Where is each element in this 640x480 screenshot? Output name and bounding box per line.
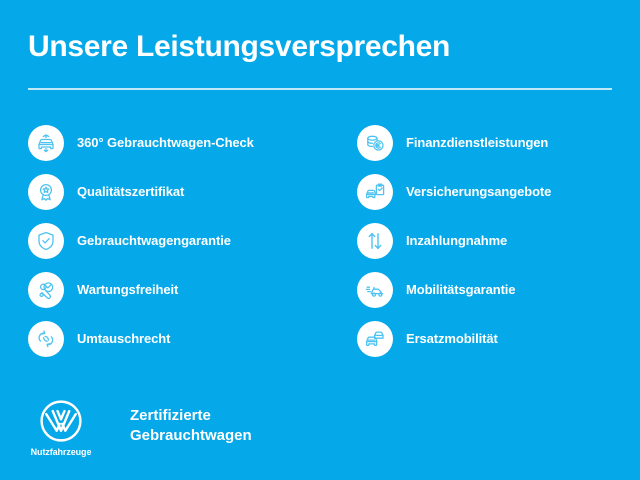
list-item[interactable]: Inzahlungnahme [357, 216, 627, 265]
list-item[interactable]: Wartungsfreiheit [28, 265, 348, 314]
list-item-label: Inzahlungnahme [406, 233, 507, 248]
two-cars-icon [357, 321, 393, 357]
list-item[interactable]: 360° Gebrauchtwagen-Check [28, 118, 348, 167]
list-item[interactable]: Ersatzmobilität [357, 314, 627, 363]
car-motion-icon [357, 272, 393, 308]
slide-root: Unsere Leistungsversprechen 360° Ge [0, 0, 640, 480]
page-title: Unsere Leistungsversprechen [28, 30, 450, 64]
list-item[interactable]: Qualitätszertifikat [28, 167, 348, 216]
brand-lockup: Nutzfahrzeuge Zertifizierte Gebrauchtwag… [26, 398, 252, 457]
promises-right-column: Finanzdienstleistungen Versicherungsange… [357, 118, 627, 363]
title-divider [28, 88, 612, 90]
list-item[interactable]: Finanzdienstleistungen [357, 118, 627, 167]
list-item-label: Ersatzmobilität [406, 331, 498, 346]
coins-euro-icon [357, 125, 393, 161]
brand-tagline-line2: Gebrauchtwagen [130, 426, 252, 446]
volkswagen-logo-icon [38, 398, 84, 444]
list-item-label: 360° Gebrauchtwagen-Check [77, 135, 254, 150]
promises-left-column: 360° Gebrauchtwagen-Check Qualitätszerti… [28, 118, 348, 363]
list-item[interactable]: Mobilitätsgarantie [357, 265, 627, 314]
list-item-label: Umtauschrecht [77, 331, 170, 346]
brand-tagline-line1: Zertifizierte [130, 406, 252, 426]
list-item-label: Gebrauchtwagengarantie [77, 233, 231, 248]
exchange-arrows-icon [28, 321, 64, 357]
brand-subtitle: Nutzfahrzeuge [31, 447, 92, 457]
wrench-check-icon [28, 272, 64, 308]
list-item-label: Mobilitätsgarantie [406, 282, 515, 297]
list-item-label: Finanzdienstleistungen [406, 135, 548, 150]
list-item[interactable]: Umtauschrecht [28, 314, 348, 363]
list-item-label: Qualitätszertifikat [77, 184, 184, 199]
list-item-label: Wartungsfreiheit [77, 282, 178, 297]
brand-mark: Nutzfahrzeuge [26, 398, 96, 457]
list-item-label: Versicherungsangebote [406, 184, 551, 199]
list-item[interactable]: Gebrauchtwagengarantie [28, 216, 348, 265]
brand-tagline: Zertifizierte Gebrauchtwagen [130, 406, 252, 446]
car-clipboard-icon [357, 174, 393, 210]
list-item[interactable]: Versicherungsangebote [357, 167, 627, 216]
car-inspection-icon [28, 125, 64, 161]
quality-medal-icon [28, 174, 64, 210]
up-down-arrows-icon [357, 223, 393, 259]
shield-check-icon [28, 223, 64, 259]
